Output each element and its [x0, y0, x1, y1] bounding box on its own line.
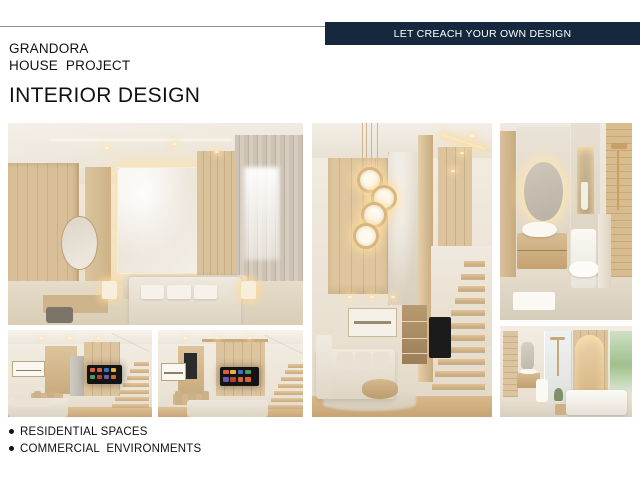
brand-name: GRANDORA	[9, 40, 130, 57]
bullet-label-commercial: COMMERCIAL ENVIRONMENTS	[20, 441, 201, 458]
photo-bathroom-tub[interactable]	[500, 326, 632, 417]
bathroom-mirror-scene	[500, 123, 632, 320]
living-tv-1-scene	[8, 330, 152, 417]
feature-bullet-list: RESIDENTIAL SPACES COMMERCIAL ENVIRONMEN…	[9, 424, 201, 457]
photo-living-room[interactable]	[312, 123, 492, 417]
bullet-item-commercial: COMMERCIAL ENVIRONMENTS	[9, 441, 201, 458]
photo-bathroom-mirror[interactable]	[500, 123, 632, 320]
photo-bedroom[interactable]	[8, 123, 303, 325]
header-ribbon: LET CREACH YOUR OWN DESIGN	[325, 22, 640, 45]
photo-living-tv-2[interactable]	[158, 330, 303, 417]
header-rule	[0, 26, 326, 27]
photo-living-tv-1[interactable]	[8, 330, 152, 417]
bullet-dot-icon	[9, 446, 14, 451]
bathroom-tub-scene	[500, 326, 632, 417]
bullet-dot-icon	[9, 429, 14, 434]
bullet-item-residential: RESIDENTIAL SPACES	[9, 424, 201, 441]
bedroom-scene	[8, 123, 303, 325]
brand-block: GRANDORA HOUSE PROJECT	[9, 40, 130, 75]
living-tv-2-scene	[158, 330, 303, 417]
brand-subtitle: HOUSE PROJECT	[9, 57, 130, 74]
bullet-label-residential: RESIDENTIAL SPACES	[20, 424, 148, 441]
page-title: INTERIOR DESIGN	[9, 84, 200, 108]
slide-canvas: LET CREACH YOUR OWN DESIGN GRANDORA HOUS…	[0, 0, 640, 480]
living-room-scene	[312, 123, 492, 417]
ribbon-label: LET CREACH YOUR OWN DESIGN	[394, 28, 572, 40]
